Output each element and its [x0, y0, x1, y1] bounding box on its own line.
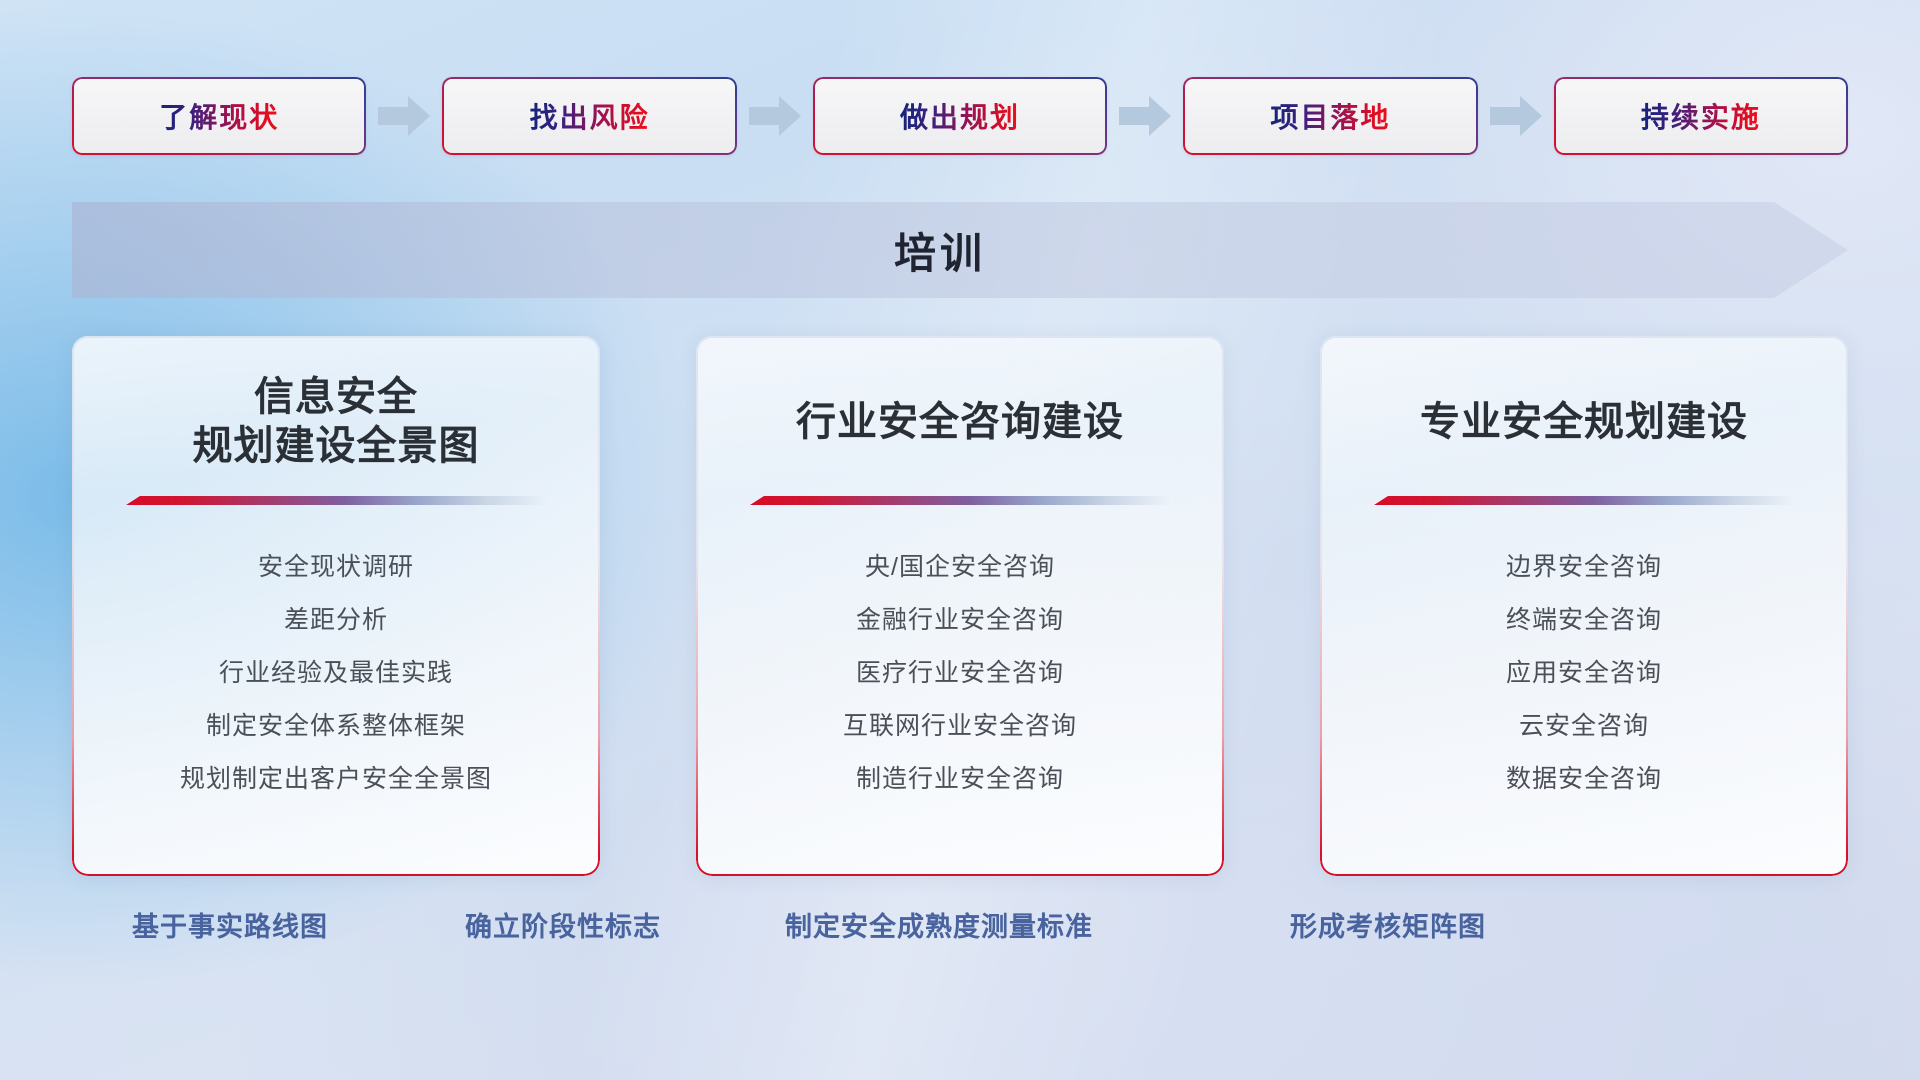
flow-step-2[interactable]: 找出风险	[442, 77, 736, 155]
flow-step-label: 持续实施	[1641, 96, 1761, 136]
flow-step-4[interactable]: 项目落地	[1183, 77, 1477, 155]
list-item: 制造行业安全咨询	[856, 759, 1064, 795]
list-item: 云安全咨询	[1519, 706, 1649, 742]
footnote-label: 形成考核矩阵图	[1290, 905, 1486, 944]
list-item: 边界安全咨询	[1506, 547, 1662, 583]
card-title: 行业安全咨询建设	[796, 370, 1124, 474]
flow-step-label: 找出风险	[530, 96, 650, 136]
list-item: 差距分析	[284, 600, 388, 636]
list-item: 行业经验及最佳实践	[219, 653, 453, 689]
footnote-label: 确立阶段性标志	[465, 905, 661, 944]
flow-step-label: 项目落地	[1270, 96, 1390, 136]
list-item: 安全现状调研	[258, 547, 414, 583]
list-item: 互联网行业安全咨询	[843, 706, 1077, 742]
card-title-line1: 专业安全规划建设	[1420, 397, 1748, 447]
card-information-security-panorama[interactable]: 信息安全 规划建设全景图 安全现状调研 差距分析 行业经验及最佳实践 制定安全体…	[72, 336, 600, 876]
list-item: 数据安全咨询	[1506, 759, 1662, 795]
process-flow: 了解现状 找出风险 做出规划 项目落地 持续实施	[72, 76, 1848, 156]
card-accent-bar	[1374, 496, 1794, 505]
list-item: 规划制定出客户安全全景图	[180, 759, 492, 795]
list-item: 金融行业安全咨询	[856, 600, 1064, 636]
arrow-right-icon	[1119, 96, 1171, 136]
footnote-label: 制定安全成熟度测量标准	[785, 905, 1093, 944]
card-item-list: 安全现状调研 差距分析 行业经验及最佳实践 制定安全体系整体框架 规划制定出客户…	[180, 547, 492, 795]
arrow-right-icon	[378, 96, 430, 136]
card-title: 专业安全规划建设	[1420, 370, 1748, 474]
footnote-label: 基于事实路线图	[132, 905, 328, 944]
card-industry-security-consulting[interactable]: 行业安全咨询建设 央/国企安全咨询 金融行业安全咨询 医疗行业安全咨询 互联网行…	[696, 336, 1224, 876]
card-title: 信息安全 规划建设全景图	[193, 370, 480, 474]
training-banner: 培训	[72, 202, 1848, 298]
card-item-list: 央/国企安全咨询 金融行业安全咨询 医疗行业安全咨询 互联网行业安全咨询 制造行…	[843, 547, 1077, 795]
flow-step-5[interactable]: 持续实施	[1554, 77, 1848, 155]
list-item: 制定安全体系整体框架	[206, 706, 466, 742]
list-item: 应用安全咨询	[1506, 653, 1662, 689]
card-professional-security-planning[interactable]: 专业安全规划建设 边界安全咨询 终端安全咨询 应用安全咨询 云安全咨询 数据安全…	[1320, 336, 1848, 876]
flow-step-3[interactable]: 做出规划	[813, 77, 1107, 155]
card-title-line1: 信息安全	[254, 375, 418, 419]
list-item: 医疗行业安全咨询	[856, 653, 1064, 689]
card-accent-bar	[750, 496, 1170, 505]
card-item-list: 边界安全咨询 终端安全咨询 应用安全咨询 云安全咨询 数据安全咨询	[1506, 547, 1662, 795]
flow-step-label: 做出规划	[900, 96, 1020, 136]
card-title-line2: 规划建设全景图	[193, 424, 480, 468]
card-row: 信息安全 规划建设全景图 安全现状调研 差距分析 行业经验及最佳实践 制定安全体…	[72, 336, 1848, 876]
list-item: 终端安全咨询	[1506, 600, 1662, 636]
list-item: 央/国企安全咨询	[865, 547, 1055, 583]
card-accent-bar	[126, 496, 546, 505]
flow-step-label: 了解现状	[159, 96, 279, 136]
arrow-right-icon	[749, 96, 801, 136]
footnote-row: 基于事实路线图 确立阶段性标志 制定安全成熟度测量标准 形成考核矩阵图	[0, 905, 1920, 965]
flow-step-1[interactable]: 了解现状	[72, 77, 366, 155]
arrow-right-icon	[1490, 96, 1542, 136]
card-title-line1: 行业安全咨询建设	[796, 397, 1124, 447]
banner-title: 培训	[72, 202, 1848, 298]
